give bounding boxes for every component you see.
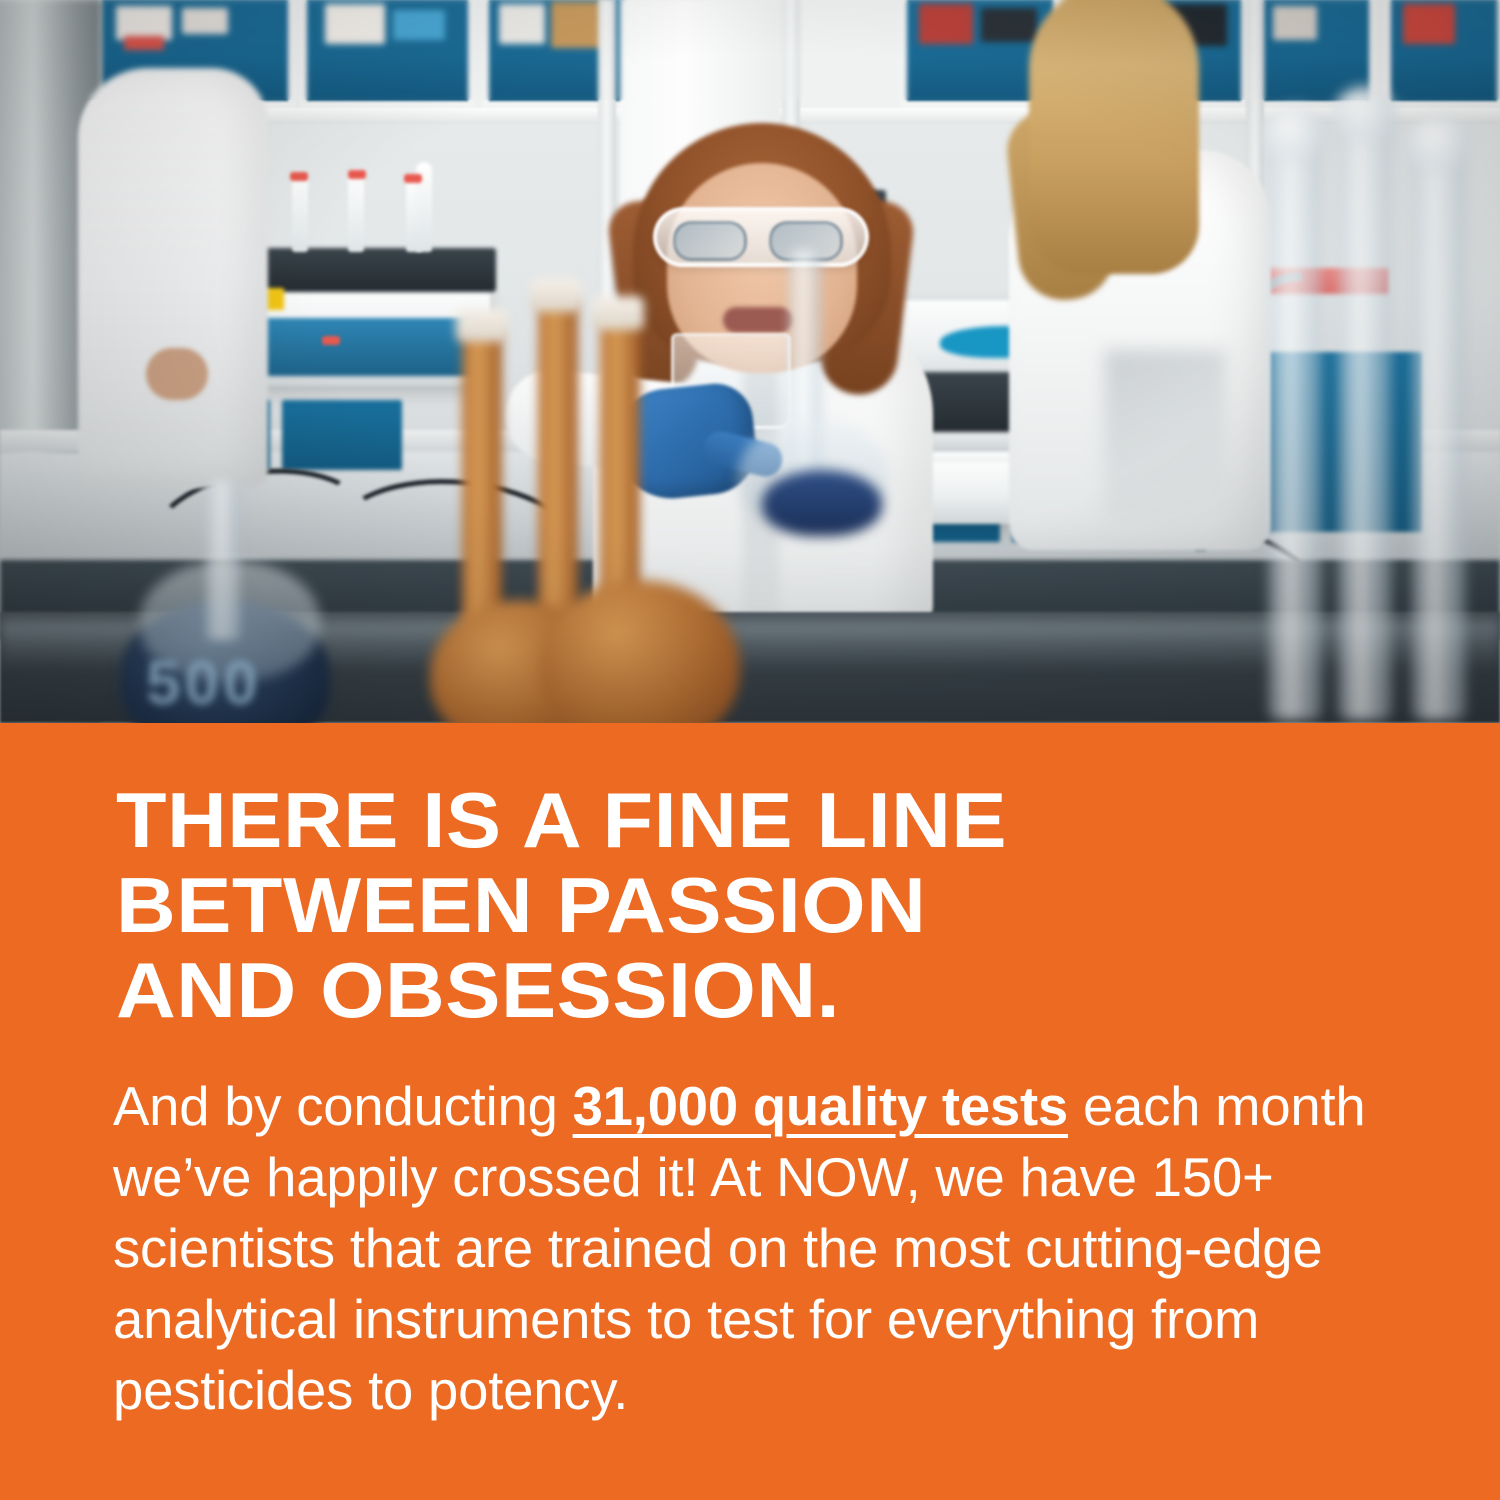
scientist-left bbox=[78, 48, 298, 488]
amber-flask-neck bbox=[462, 330, 502, 630]
erlenmeyer-flask bbox=[762, 470, 882, 536]
poster-root: 500 THERE IS A FINE LINE BETWEEN PASSION… bbox=[0, 0, 1500, 1500]
flask-cap bbox=[592, 296, 644, 330]
hand bbox=[146, 348, 208, 400]
flask-volume-label: 500 bbox=[146, 648, 261, 719]
cabinet-door bbox=[1384, 0, 1500, 108]
mouth bbox=[723, 307, 793, 333]
safety-goggles-icon bbox=[653, 207, 869, 267]
flask-cap bbox=[456, 308, 508, 342]
scientist-right bbox=[985, 0, 1285, 560]
page-title: THERE IS A FINE LINE BETWEEN PASSION AND… bbox=[116, 778, 1473, 1033]
stat-highlight: 31,000 quality tests bbox=[573, 1075, 1068, 1137]
body-copy: And by conducting 31,000 quality tests e… bbox=[113, 1071, 1390, 1426]
orange-content-panel: THERE IS A FINE LINE BETWEEN PASSION AND… bbox=[0, 723, 1500, 1500]
lab-photo: 500 bbox=[0, 0, 1500, 723]
burette bbox=[1268, 120, 1322, 720]
burette-top bbox=[1408, 116, 1470, 172]
flask-cap bbox=[530, 278, 582, 312]
lab-coat bbox=[78, 68, 268, 488]
instrument-led bbox=[322, 336, 340, 345]
burette-top bbox=[1264, 106, 1326, 162]
amber-flask-neck bbox=[538, 300, 578, 620]
test-tube bbox=[348, 170, 364, 252]
tube-cap bbox=[348, 170, 366, 179]
tube-cap bbox=[404, 174, 422, 183]
burette bbox=[1412, 130, 1466, 720]
cabinet-door bbox=[300, 0, 475, 108]
body-lead: And by conducting bbox=[113, 1075, 573, 1137]
drawer-unit bbox=[282, 400, 402, 470]
burette bbox=[1338, 100, 1392, 720]
hair bbox=[1029, 0, 1199, 274]
burette-top bbox=[1334, 86, 1396, 142]
